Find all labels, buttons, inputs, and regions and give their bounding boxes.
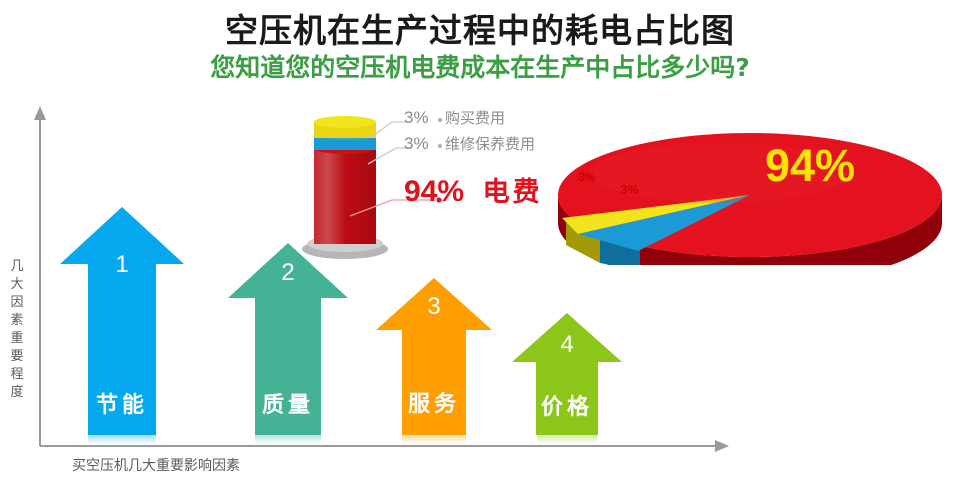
callout-electricity-name: 电费 xyxy=(483,177,543,208)
arrow-reflection-3 xyxy=(402,435,466,444)
callout-purchase: 3% 购买费用 xyxy=(404,107,505,128)
pie-chart-svg xyxy=(540,105,960,265)
factor-label-1: 节能 xyxy=(60,387,184,419)
callout-purchase-name: 购买费用 xyxy=(445,109,505,127)
pie-label-maintenance: 3% xyxy=(620,182,639,197)
y-axis-label: 几大因素重要程度 xyxy=(6,258,28,402)
factor-rank-1: 1 xyxy=(60,251,184,279)
pie-label-electricity: 94% xyxy=(765,140,855,192)
x-axis-label: 买空压机几大重要影响因素 xyxy=(72,455,240,475)
callout-maintenance: 3% 维修保养费用 xyxy=(404,133,535,154)
callout-maintenance-name: 维修保养费用 xyxy=(445,135,535,153)
infographic-canvas: 空压机在生产过程中的耗电占比图 您知道您的空压机电费成本在生产中占比多少吗? 几… xyxy=(0,0,960,483)
factor-label-3: 服务 xyxy=(376,386,492,418)
factor-rank-2: 2 xyxy=(228,259,348,287)
factor-label-4: 价格 xyxy=(512,389,622,421)
factor-label-2: 质量 xyxy=(228,387,348,419)
arrow-reflection-1 xyxy=(88,435,156,444)
callout-electricity: 94% 电费 xyxy=(404,170,543,209)
pie-label-purchase: 3% xyxy=(578,170,595,184)
page-subtitle: 您知道您的空压机电费成本在生产中占比多少吗? xyxy=(0,48,960,84)
pie-chart[interactable] xyxy=(540,105,960,265)
factor-arrow-4[interactable]: 4 价格 xyxy=(512,313,622,435)
factor-arrow-1[interactable]: 1 节能 xyxy=(60,207,184,435)
factor-arrow-2[interactable]: 2 质量 xyxy=(228,243,348,435)
callout-maintenance-pct: 3% xyxy=(404,134,429,153)
cylinder-chart[interactable] xyxy=(302,122,388,262)
arrow-reflection-4 xyxy=(537,435,597,444)
arrow-reflection-2 xyxy=(255,435,321,444)
callout-electricity-pct: 94% xyxy=(404,175,464,208)
factor-arrow-3[interactable]: 3 服务 xyxy=(376,278,492,435)
cylinder-body-sheen xyxy=(314,142,376,244)
page-title: 空压机在生产过程中的耗电占比图 xyxy=(0,4,960,52)
cylinder-purchase-cap xyxy=(314,116,376,128)
factor-rank-3: 3 xyxy=(376,293,492,321)
factor-rank-4: 4 xyxy=(512,331,622,359)
callout-purchase-pct: 3% xyxy=(404,108,429,127)
